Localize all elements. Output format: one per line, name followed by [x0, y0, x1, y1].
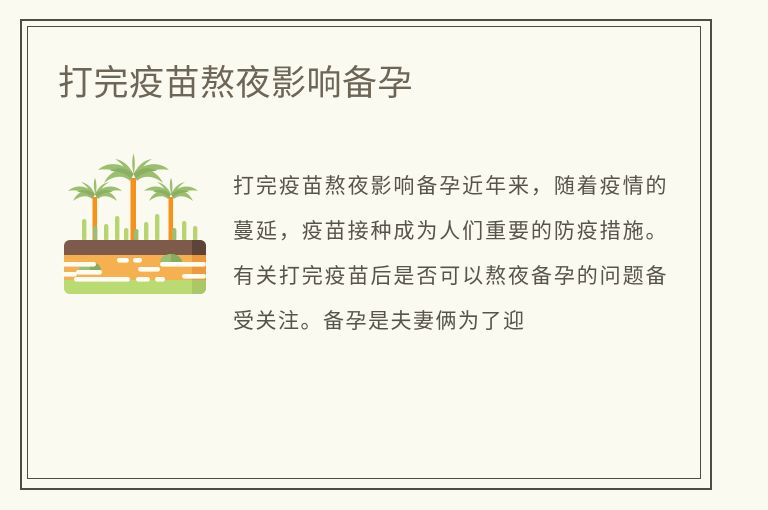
page-content: 打完疫苗熬夜影响备孕 — [0, 0, 768, 510]
page-title: 打完疫苗熬夜影响备孕 — [58, 62, 413, 106]
article-body-text: 打完疫苗熬夜影响备孕近年来，随着疫情的蔓延，疫苗接种成为人们重要的防疫措施。有关… — [233, 164, 668, 344]
article-page: 打完疫苗熬夜影响备孕 — [0, 0, 768, 510]
palm-trees-soil-layers-icon — [62, 150, 208, 300]
